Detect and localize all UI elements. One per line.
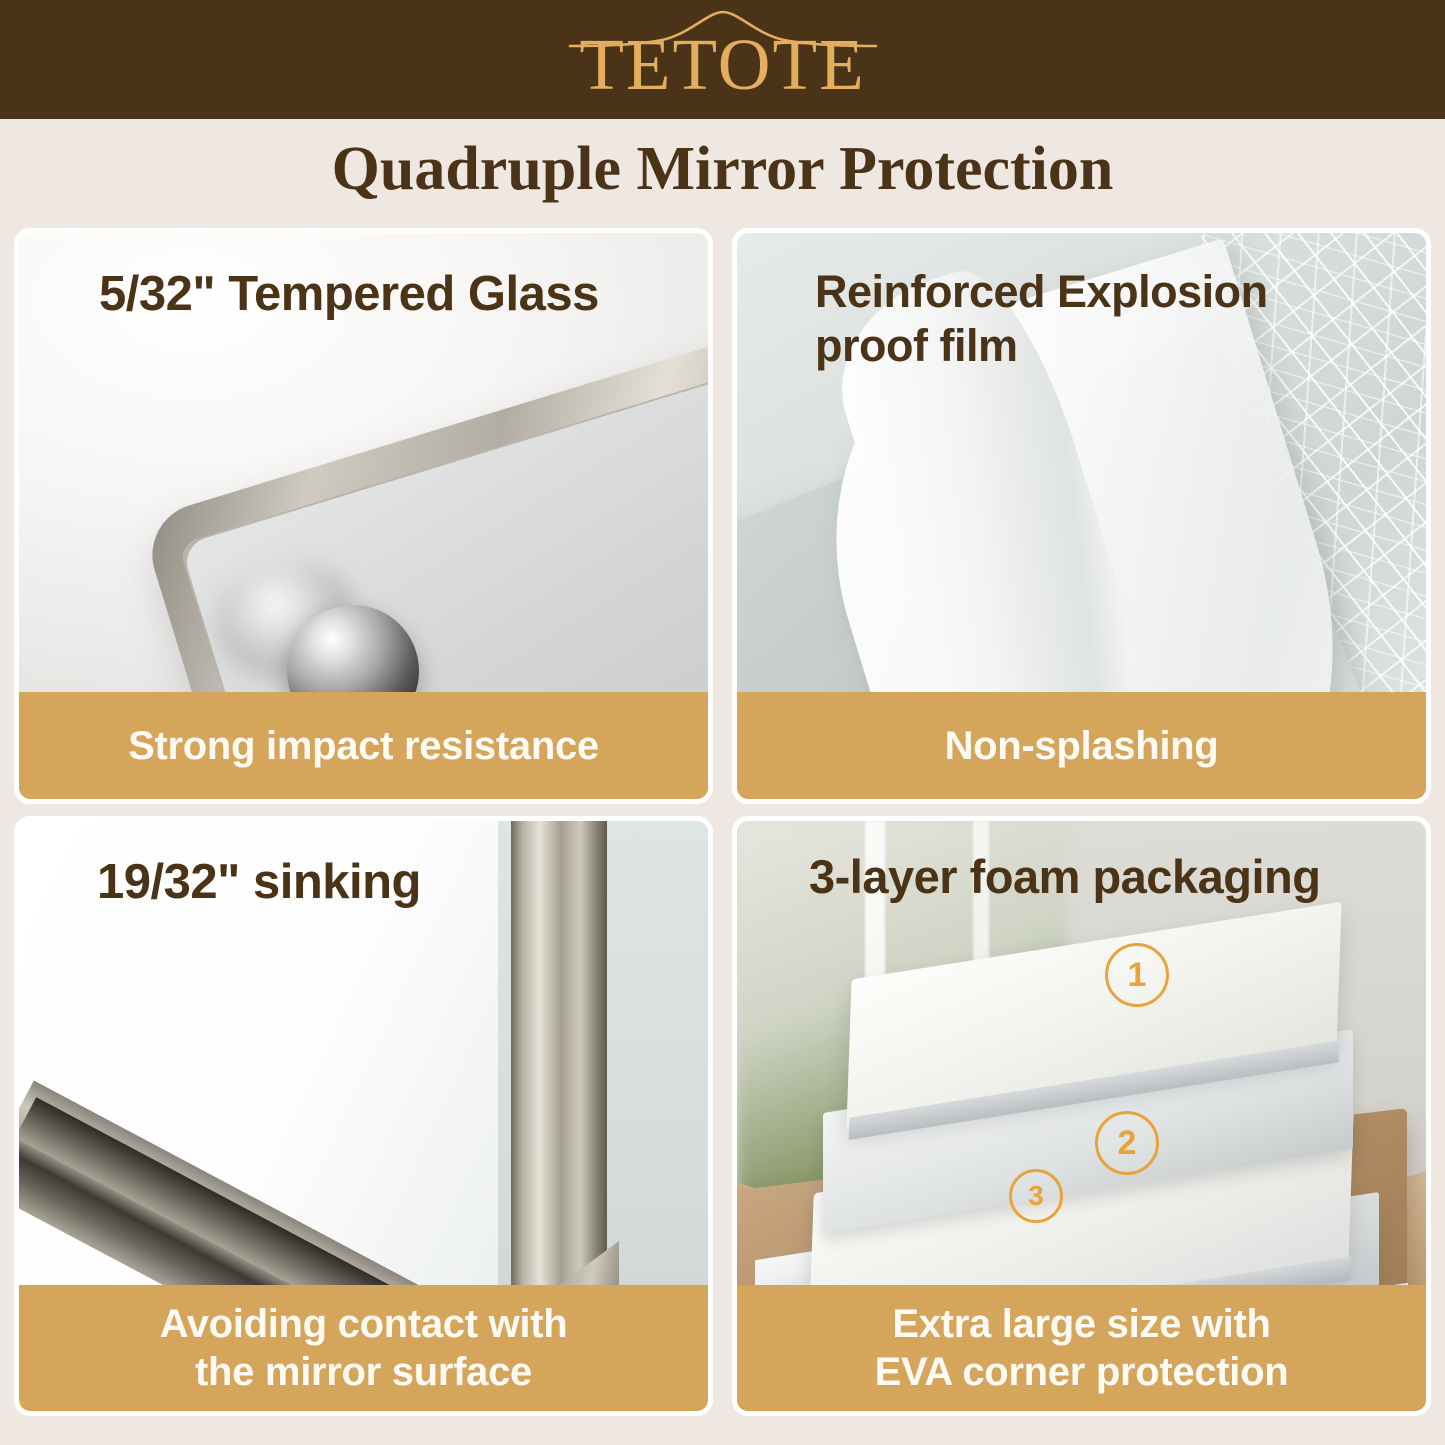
frame-vertical-section xyxy=(511,821,607,1285)
infographic-page: TETOTE Quadruple Mirror Protection 5/32"… xyxy=(0,0,1445,1445)
feature-caption-eva-protection: Extra large size with EVA corner protect… xyxy=(737,1285,1426,1411)
page-title: Quadruple Mirror Protection xyxy=(0,131,1445,207)
feature-caption-non-splashing: Non-splashing xyxy=(737,692,1426,799)
caption-line-1: Extra large size with xyxy=(892,1300,1270,1348)
brand-logo-text: TETOTE xyxy=(558,28,888,101)
title-line-2: proof film xyxy=(815,319,1268,373)
feature-card-explosion-proof-film: Reinforced Explosion proof film Non-spla… xyxy=(732,228,1431,804)
feature-caption-impact-resistance: Strong impact resistance xyxy=(19,692,708,799)
feature-caption-avoid-contact: Avoiding contact with the mirror surface xyxy=(19,1285,708,1411)
feature-card-tempered-glass: 5/32" Tempered Glass Strong impact resis… xyxy=(14,228,713,804)
layer-badge-2: 2 xyxy=(1095,1111,1159,1175)
feature-card-foam-packaging: 1 2 3 3-layer foam packaging Extra large… xyxy=(732,816,1431,1416)
caption-line-1: Avoiding contact with xyxy=(160,1300,568,1348)
layer-badge-3: 3 xyxy=(1009,1169,1063,1223)
feature-title-explosion-proof-film: Reinforced Explosion proof film xyxy=(815,265,1268,373)
brand-bar: TETOTE xyxy=(0,0,1445,119)
feature-grid: 5/32" Tempered Glass Strong impact resis… xyxy=(14,228,1431,1428)
caption-line-2: the mirror surface xyxy=(195,1348,532,1396)
brand-logo: TETOTE xyxy=(558,6,888,114)
caption-line-2: EVA corner protection xyxy=(875,1348,1289,1396)
feature-title-sinking-frame: 19/32" sinking xyxy=(97,853,421,911)
feature-title-foam-packaging: 3-layer foam packaging xyxy=(809,849,1320,905)
layer-badge-1: 1 xyxy=(1105,943,1169,1007)
feature-card-sinking-frame: 0.6″ 19/32" sinking Avoiding contact wit… xyxy=(14,816,713,1416)
feature-title-tempered-glass: 5/32" Tempered Glass xyxy=(99,265,599,323)
caption-line: Strong impact resistance xyxy=(128,723,599,769)
caption-line: Non-splashing xyxy=(945,723,1219,769)
title-line-1: Reinforced Explosion xyxy=(815,265,1268,319)
